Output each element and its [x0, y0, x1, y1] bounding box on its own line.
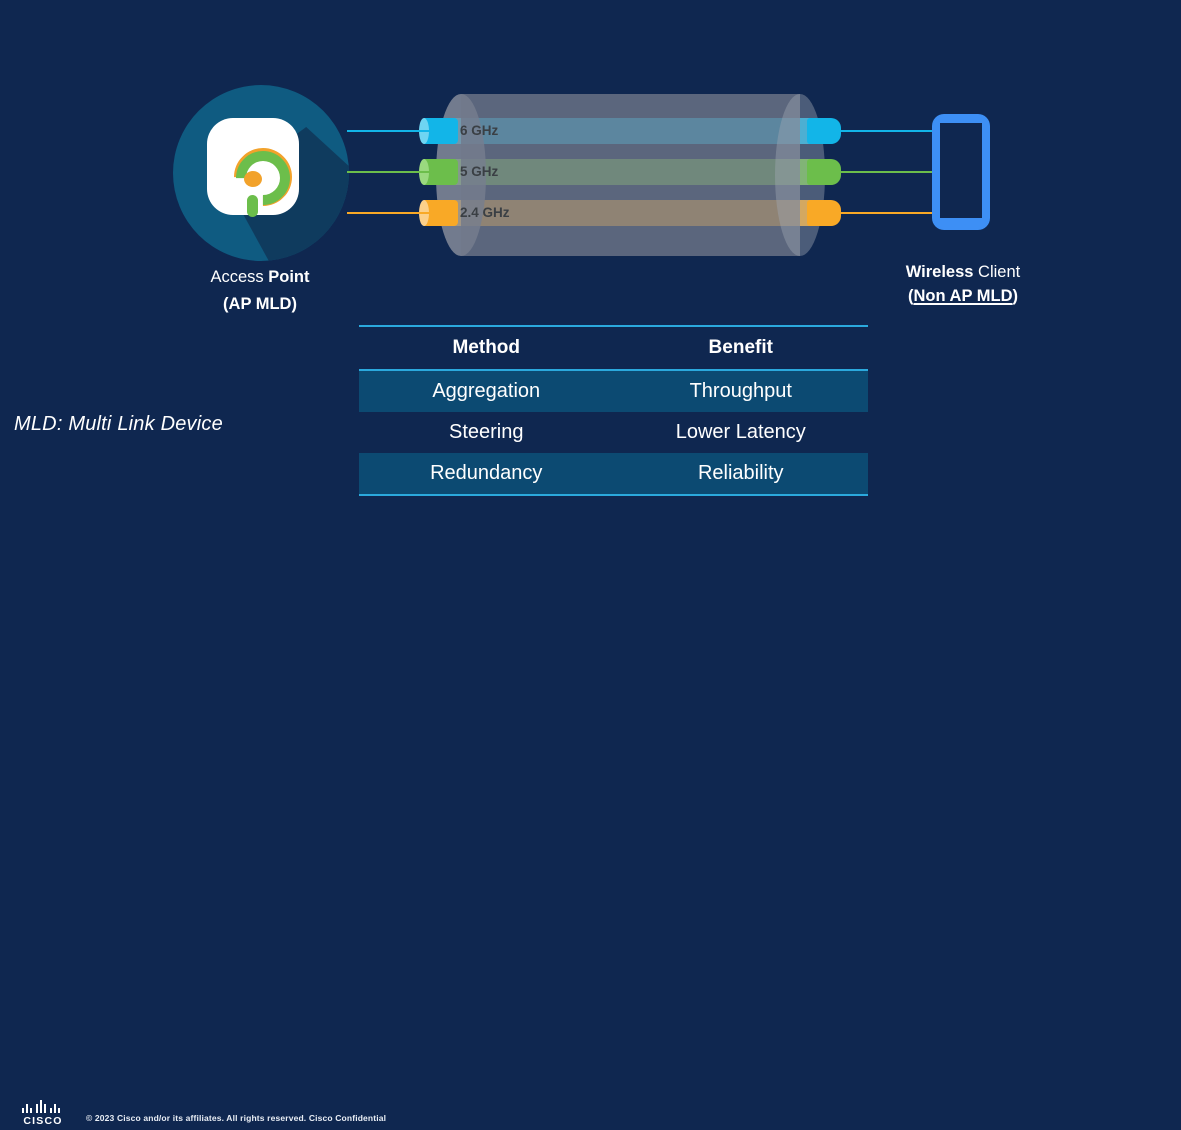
mld-note: MLD: Multi Link Device: [14, 413, 223, 436]
access-point-label-bold: Point: [268, 268, 309, 286]
band-label-5ghz: 5 GHz: [460, 159, 498, 185]
table-cell-method-3: Redundancy: [359, 462, 614, 485]
access-point-label: Access Point (AP MLD): [120, 264, 400, 318]
footer: CISCO © 2023 Cisco and/or its affiliates…: [0, 549, 1181, 601]
link-cap-right-6ghz: [807, 118, 841, 144]
arrow-line-right-24ghz: [840, 212, 932, 214]
band-label-24ghz: 2.4 GHz: [460, 200, 510, 226]
access-point-label-sub: (AP MLD): [120, 291, 400, 318]
copyright-text: © 2023 Cisco and/or its affiliates. All …: [86, 1113, 386, 1123]
wifi-dot-icon: [244, 171, 262, 187]
link-cap-left-24ghz: [424, 200, 458, 226]
arrow-line-left-24ghz: [347, 212, 429, 214]
arrow-line-right-5ghz: [840, 171, 932, 173]
smartphone-screen: [940, 123, 982, 218]
cisco-wordmark: CISCO: [20, 1115, 66, 1127]
table-cell-benefit-1: Throughput: [614, 380, 869, 403]
table-rule-bottom: [359, 494, 868, 496]
client-label-thin: Client: [973, 263, 1020, 281]
link-cap-right-24ghz: [807, 200, 841, 226]
access-point-circle: [173, 85, 349, 261]
link-cap-left-6ghz: [424, 118, 458, 144]
table-row: Steering Lower Latency: [359, 412, 868, 453]
table-header-benefit: Benefit: [614, 337, 869, 359]
access-point-graphic: [173, 85, 349, 261]
arrow-line-right-6ghz: [840, 130, 932, 132]
benefits-table: Method Benefit Aggregation Throughput St…: [359, 325, 868, 496]
band-label-6ghz: 6 GHz: [460, 118, 498, 144]
table-row: Redundancy Reliability: [359, 453, 868, 494]
wifi-stem-icon: [247, 195, 258, 217]
slide-canvas: Access Point (AP MLD) 6 GHz 5 GHz 2.4 GH…: [0, 0, 1181, 601]
table-cell-method-2: Steering: [359, 421, 614, 444]
link-cap-left-5ghz: [424, 159, 458, 185]
cisco-logo-bars-icon: [20, 1100, 66, 1113]
arrow-line-left-6ghz: [347, 130, 429, 132]
client-label: Wireless Client (Non AP MLD): [833, 260, 1093, 308]
access-point-label-thin: Access: [210, 268, 268, 286]
cisco-logo: CISCO: [20, 1100, 66, 1130]
table-header-row: Method Benefit: [359, 327, 868, 369]
client-label-bold: Wireless: [906, 263, 974, 281]
client-label-underlined: Non AP MLD: [914, 287, 1013, 305]
table-cell-benefit-2: Lower Latency: [614, 421, 869, 444]
smartphone-icon: [932, 114, 990, 230]
client-label-paren-close: ): [1013, 287, 1019, 305]
link-cap-right-5ghz: [807, 159, 841, 185]
table-row: Aggregation Throughput: [359, 371, 868, 412]
table-header-method: Method: [359, 337, 614, 359]
table-cell-method-1: Aggregation: [359, 380, 614, 403]
table-cell-benefit-3: Reliability: [614, 462, 869, 485]
arrow-line-left-5ghz: [347, 171, 429, 173]
cylinder-body: [461, 94, 800, 256]
